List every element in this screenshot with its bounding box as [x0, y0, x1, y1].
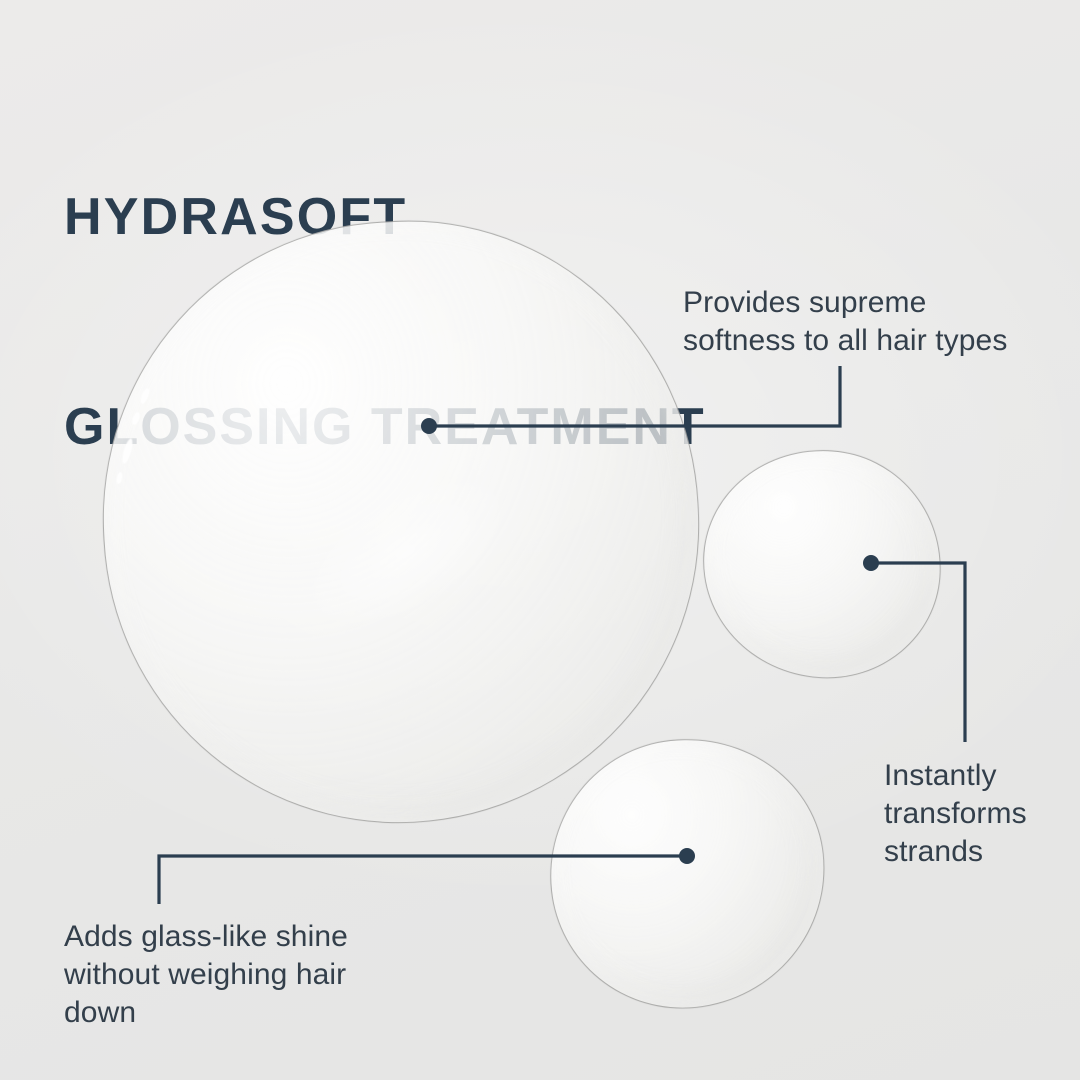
gloss-sheen	[272, 439, 540, 665]
product-infographic: HYDRASOFT GLOSSING TREATMENT Provides su…	[0, 0, 1080, 1080]
callout-label-softness: Provides supreme softness to all hair ty…	[683, 284, 1007, 360]
callout-label-shine: Adds glass-like shine without weighing h…	[64, 918, 348, 1032]
callout-label-transforms: Instantly transforms strands	[884, 757, 1027, 871]
medium-gel-blob	[695, 442, 948, 686]
small-gel-blob	[537, 725, 839, 1021]
